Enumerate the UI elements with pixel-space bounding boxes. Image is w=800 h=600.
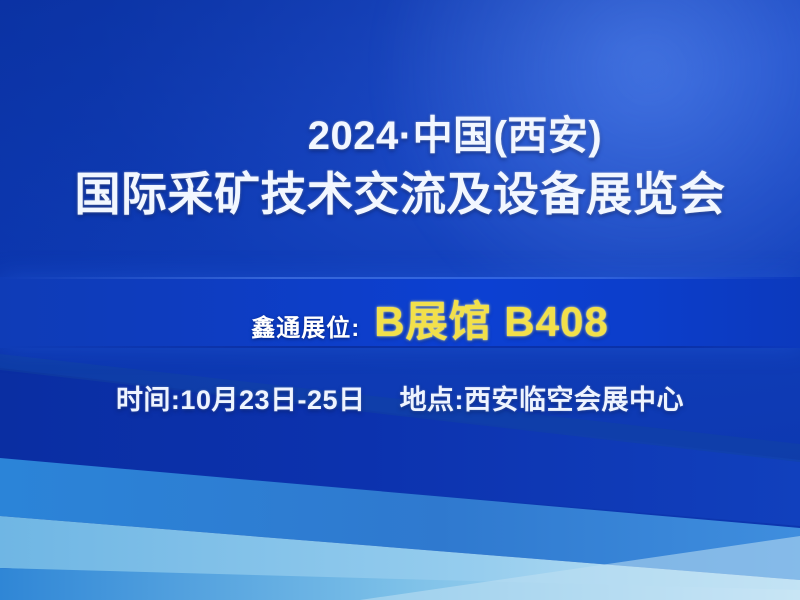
headline-line-1: 2024·中国(西安) [0, 112, 800, 160]
booth-number: B展馆 B408 [374, 288, 608, 349]
event-poster: 2024·中国(西安) 国际采矿技术交流及设备展览会 鑫通展位: B展馆 B40… [0, 0, 800, 600]
booth-info: 鑫通展位: B展馆 B408 [0, 288, 800, 349]
event-date: 时间:10月23日-25日 [116, 385, 366, 415]
booth-label: 鑫通展位: [251, 308, 360, 343]
event-meta: 时间:10月23日-25日 地点:西安临空会展中心 [0, 378, 800, 417]
page-title: 2024·中国(西安) 国际采矿技术交流及设备展览会 [0, 112, 800, 222]
headline-line-2: 国际采矿技术交流及设备展览会 [0, 166, 800, 222]
event-venue: 地点:西安临空会展中心 [400, 385, 685, 415]
